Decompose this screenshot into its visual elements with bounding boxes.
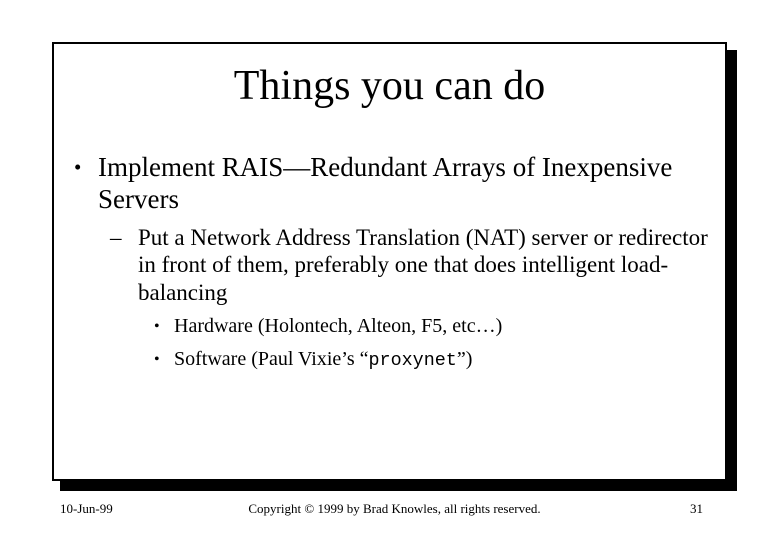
slide-frame: Things you can do • Implement RAIS—Redun… <box>52 42 727 481</box>
bullet-text: Put a Network Address Translation (NAT) … <box>138 225 708 305</box>
bullet-marker-disc-icon: • <box>154 346 160 373</box>
bullet-text-before: Software (Paul Vixie’s “ <box>174 348 369 370</box>
footer-copyright: Copyright © 1999 by Brad Knowles, all ri… <box>52 498 737 520</box>
bullet-text-after: ”) <box>457 348 473 370</box>
bullet-marker-dash-icon: – <box>110 224 122 252</box>
bullet-level2-nat: – Put a Network Address Translation (NAT… <box>62 224 717 307</box>
bullet-text: Implement RAIS—Redundant Arrays of Inexp… <box>98 152 672 214</box>
slide-footer: 10-Jun-99 Copyright © 1999 by Brad Knowl… <box>52 498 737 520</box>
bullet-level1-rais: • Implement RAIS—Redundant Arrays of Ine… <box>62 152 717 216</box>
slide-body: • Implement RAIS—Redundant Arrays of Ine… <box>62 152 717 373</box>
bullet-level3-hardware: • Hardware (Holontech, Alteon, F5, etc…) <box>62 313 717 340</box>
bullet-text-code: proxynet <box>369 350 457 371</box>
slide-root: Things you can do • Implement RAIS—Redun… <box>0 0 779 539</box>
slide-title: Things you can do <box>54 64 725 109</box>
bullet-marker-disc-icon: • <box>154 313 160 340</box>
bullet-text: Hardware (Holontech, Alteon, F5, etc…) <box>174 315 502 337</box>
bullet-marker-disc-icon: • <box>74 152 81 184</box>
footer-page-number: 31 <box>690 498 703 520</box>
bullet-level3-software: • Software (Paul Vixie’s “proxynet”) <box>62 346 717 374</box>
